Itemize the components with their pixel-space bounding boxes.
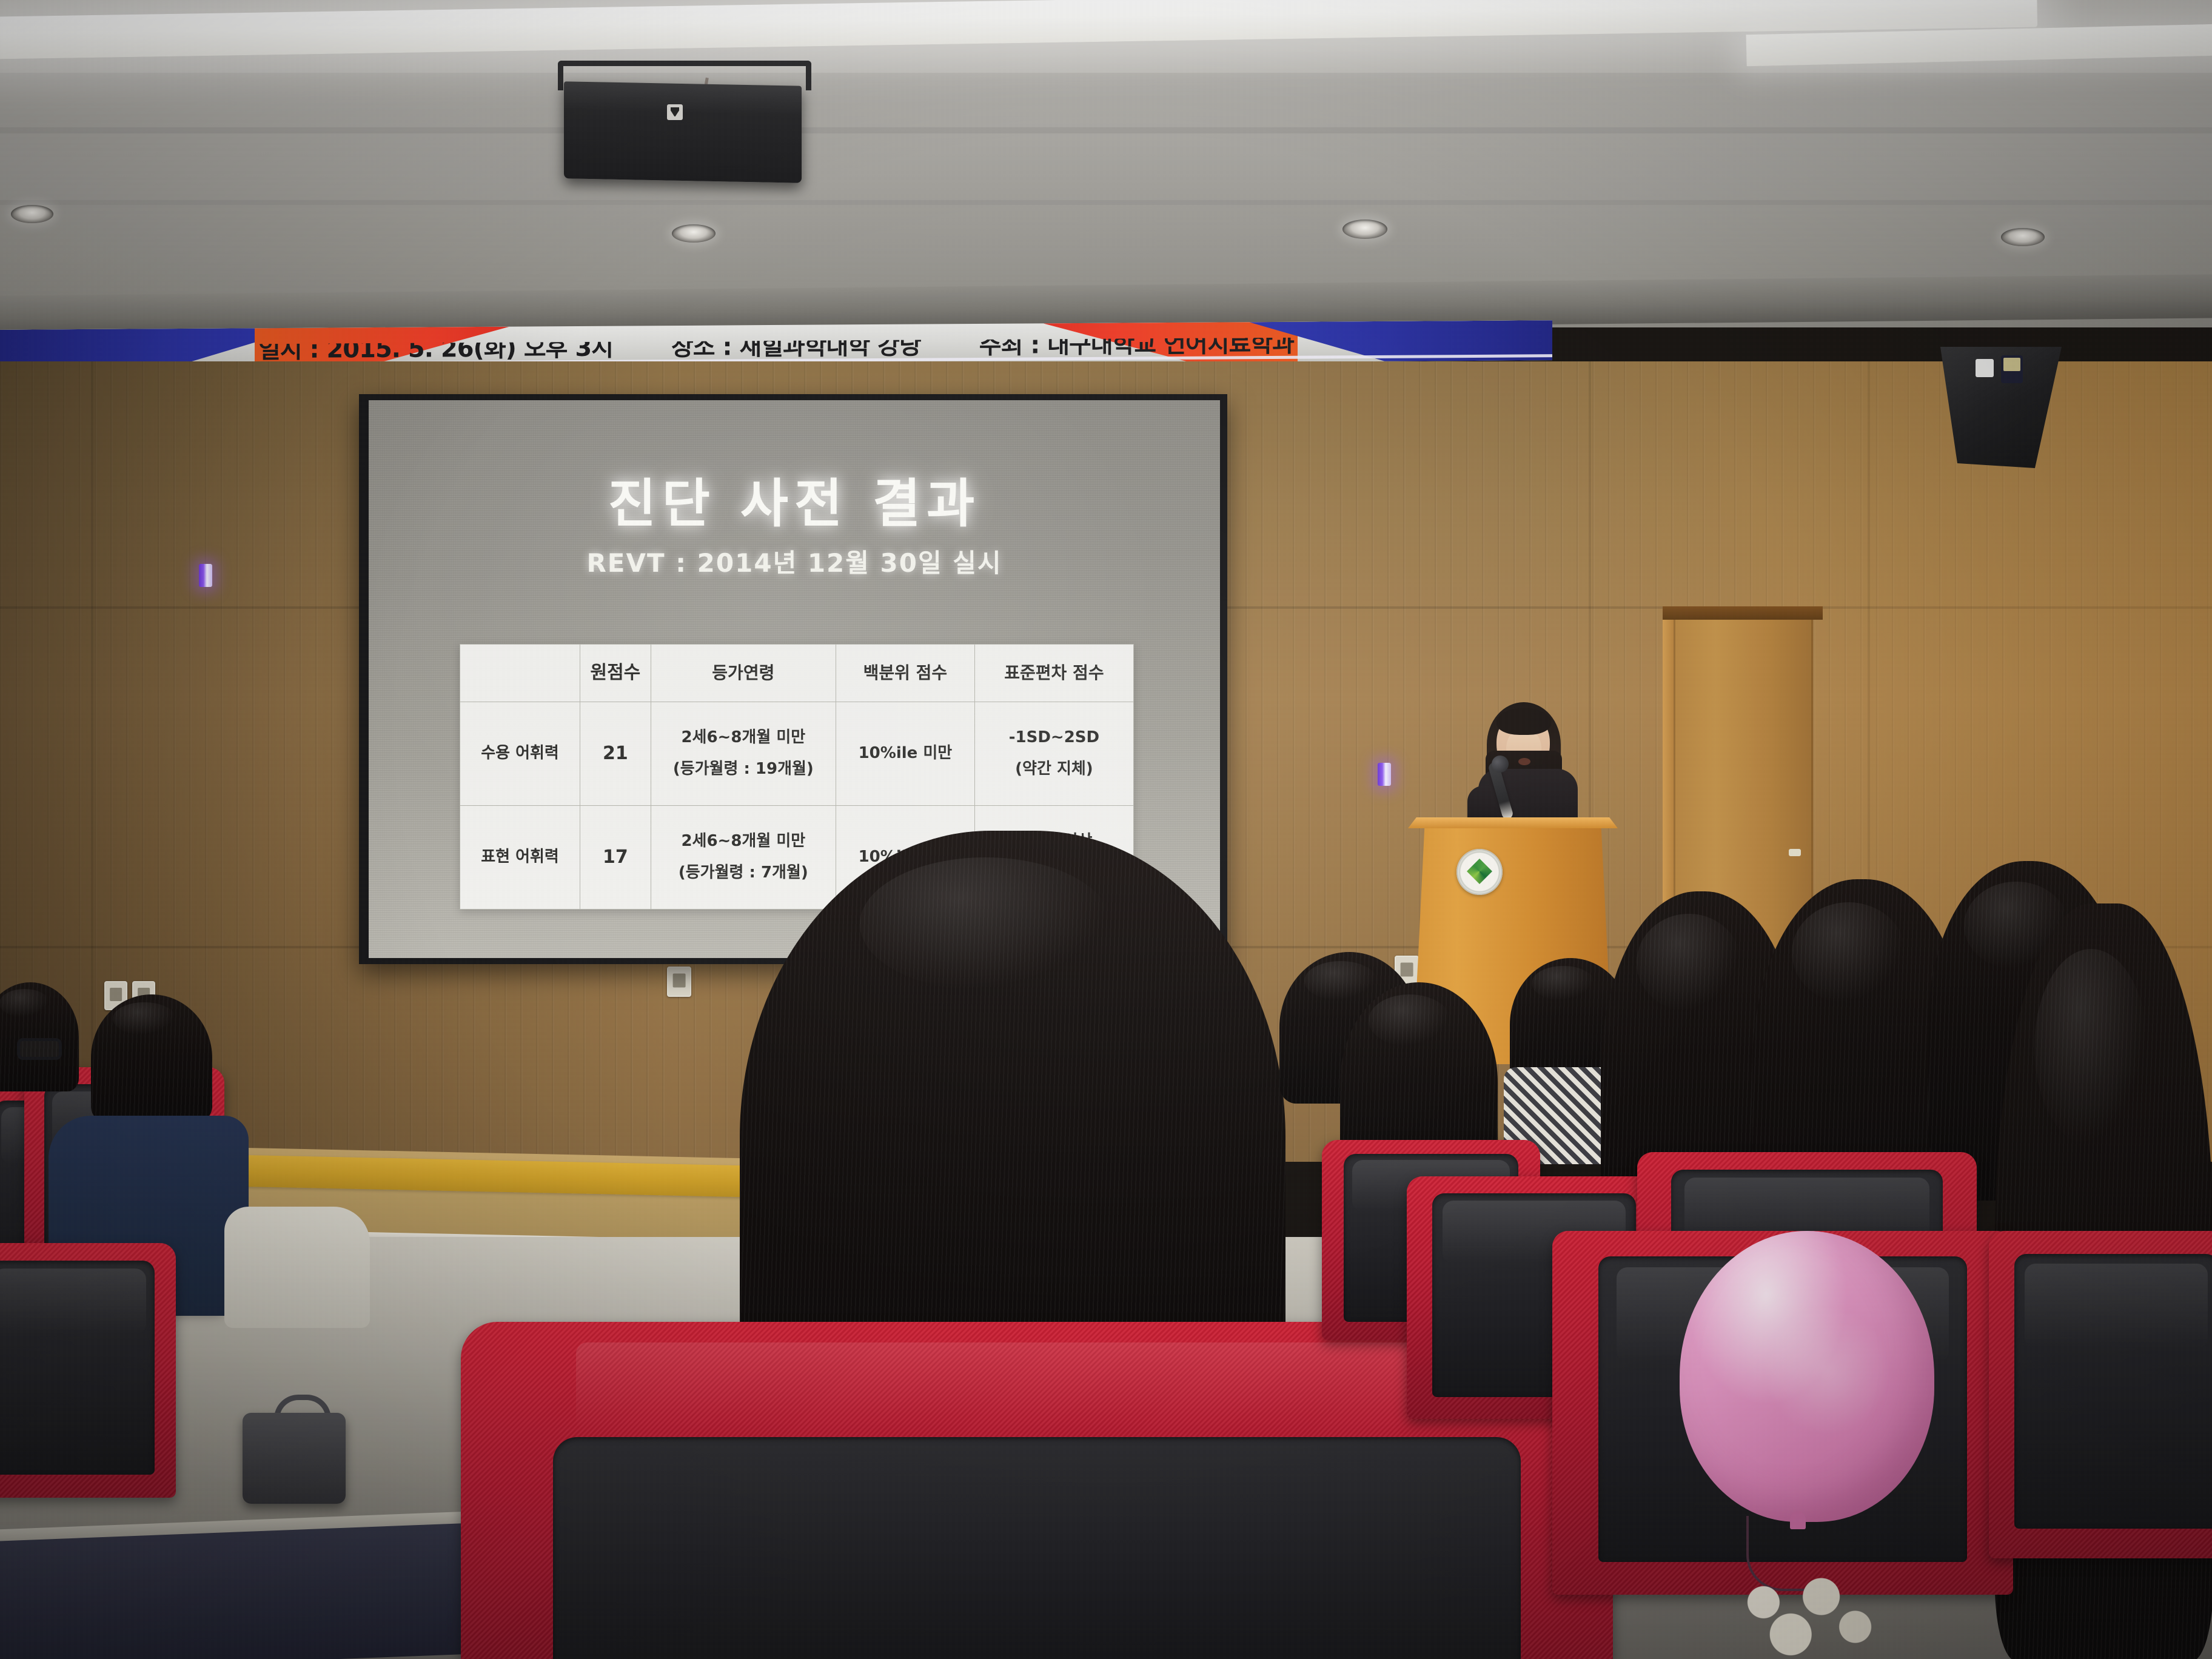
- table-header-row: 원점수 등가연령 백분위 점수 표준편차 점수: [460, 645, 1134, 702]
- downlight-icon: [672, 224, 716, 243]
- row-label: 수용 어휘력: [460, 702, 580, 806]
- shoulder-bag: [243, 1413, 346, 1504]
- table-header-cell: [460, 645, 580, 702]
- pink-balloon: [1680, 1231, 1934, 1522]
- equiv-age-line2: (등가월령 : 19개월): [654, 758, 833, 781]
- wall-speaker-led-icon: [1976, 359, 1994, 377]
- ceiling-seam-1: [0, 127, 2212, 133]
- row-label: 표현 어휘력: [460, 806, 580, 910]
- table-header-cell: 백분위 점수: [836, 645, 974, 702]
- table-row: 수용 어휘력 21 2세6~8개월 미만 (등가월령 : 19개월) 10%il…: [460, 702, 1134, 806]
- table-header-cell: 표준편차 점수: [974, 645, 1133, 702]
- seat: [0, 1243, 176, 1498]
- door-knob-icon[interactable]: [1789, 849, 1801, 856]
- audience-legs: [224, 1207, 370, 1328]
- wall-indicator-led-icon: [199, 564, 212, 587]
- table-header-cell: 등가연령: [651, 645, 836, 702]
- ceiling-seam-2: [0, 200, 2212, 205]
- presenter-fringe: [1496, 708, 1551, 735]
- row-equivalent-age: 2세6~8개월 미만 (등가월령 : 19개월): [651, 702, 836, 806]
- power-outlet-icon: [667, 967, 691, 997]
- downlight-icon: [1342, 220, 1387, 239]
- slide-title: 진단 사전 결과: [369, 461, 1220, 537]
- emblem-ring: [1456, 849, 1503, 895]
- eyeglasses-icon: [17, 1038, 62, 1060]
- slide-subtitle: REVT : 2014년 12월 30일 실시: [369, 543, 1220, 580]
- lace-fabric: [1716, 1564, 1886, 1659]
- speaker-brand-logo-icon: [667, 104, 683, 120]
- ceiling-speaker-icon: [564, 81, 802, 183]
- downlight-icon: [11, 205, 53, 223]
- wall-speaker-panel-icon: [2001, 355, 2023, 383]
- wall-indicator-led-icon: [1378, 763, 1391, 786]
- sd-line2: (약간 지체): [977, 758, 1131, 781]
- sd-line1: -1SD~2SD: [977, 726, 1131, 749]
- table-header-cell: 원점수: [580, 645, 651, 702]
- presenter-mouth: [1518, 758, 1530, 765]
- downlight-icon: [2001, 228, 2045, 246]
- row-percentile: 10%ile 미만: [836, 702, 974, 806]
- podium-top: [1408, 817, 1618, 828]
- audience-head: [91, 994, 212, 1122]
- auditorium-photo: 일시 : 2015. 5. 26(화) 오후 3시 장소 : 새힐과학대학 강당…: [0, 0, 2212, 1659]
- door-header: [1663, 606, 1823, 620]
- row-sd-score: -1SD~2SD (약간 지체): [974, 702, 1133, 806]
- audience-head: [0, 982, 79, 1091]
- equiv-age-line1: 2세6~8개월 미만: [654, 726, 833, 749]
- row-raw-score: 21: [580, 702, 651, 806]
- row-raw-score: 17: [580, 806, 651, 910]
- seat: [1989, 1231, 2212, 1558]
